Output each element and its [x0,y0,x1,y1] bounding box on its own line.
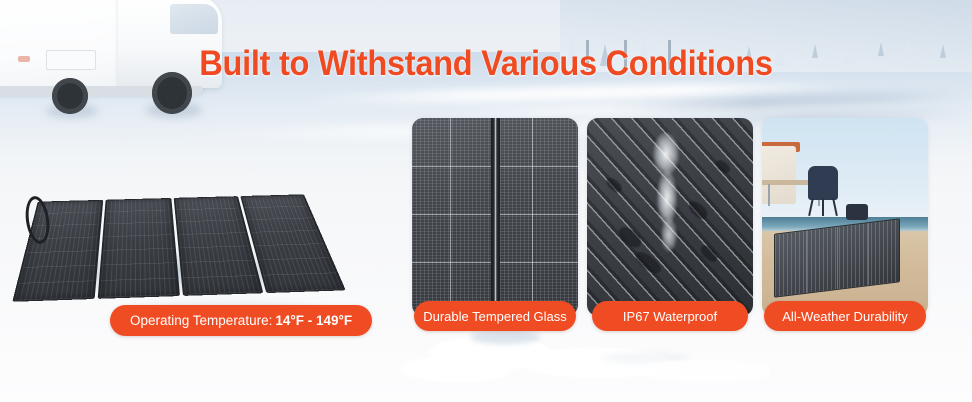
power-station-bag [846,204,868,220]
status-badge-waterproof: IP67 Waterproof [592,301,748,331]
hero-solar-panel [14,96,348,296]
rv-windshield [170,4,218,34]
panel-fold-seam [491,118,500,316]
badge-value: 14°F - 149°F [275,313,352,328]
feature-image-tempered-glass [412,118,578,316]
feature-image-waterproof [587,118,753,316]
status-badge-tempered-glass: Durable Tempered Glass [414,301,576,331]
status-badge-all-weather: All-Weather Durability [764,301,926,331]
badge-label: Durable Tempered Glass [423,309,567,324]
product-feature-banner: Built to Withstand Various Conditions [0,0,972,402]
feature-image-all-weather [762,118,928,316]
badge-label: IP67 Waterproof [623,309,717,324]
page-title: Built to Withstand Various Conditions [34,44,938,84]
badge-label: Operating Temperature: [130,313,272,328]
camp-chair [808,166,838,200]
status-badge-operating-temperature: Operating Temperature: 14°F - 149°F [110,305,372,336]
badge-label: All-Weather Durability [782,309,907,324]
camp-chair-legs [808,198,838,216]
rv-tail-light [18,56,30,62]
panel-segment [98,198,180,299]
